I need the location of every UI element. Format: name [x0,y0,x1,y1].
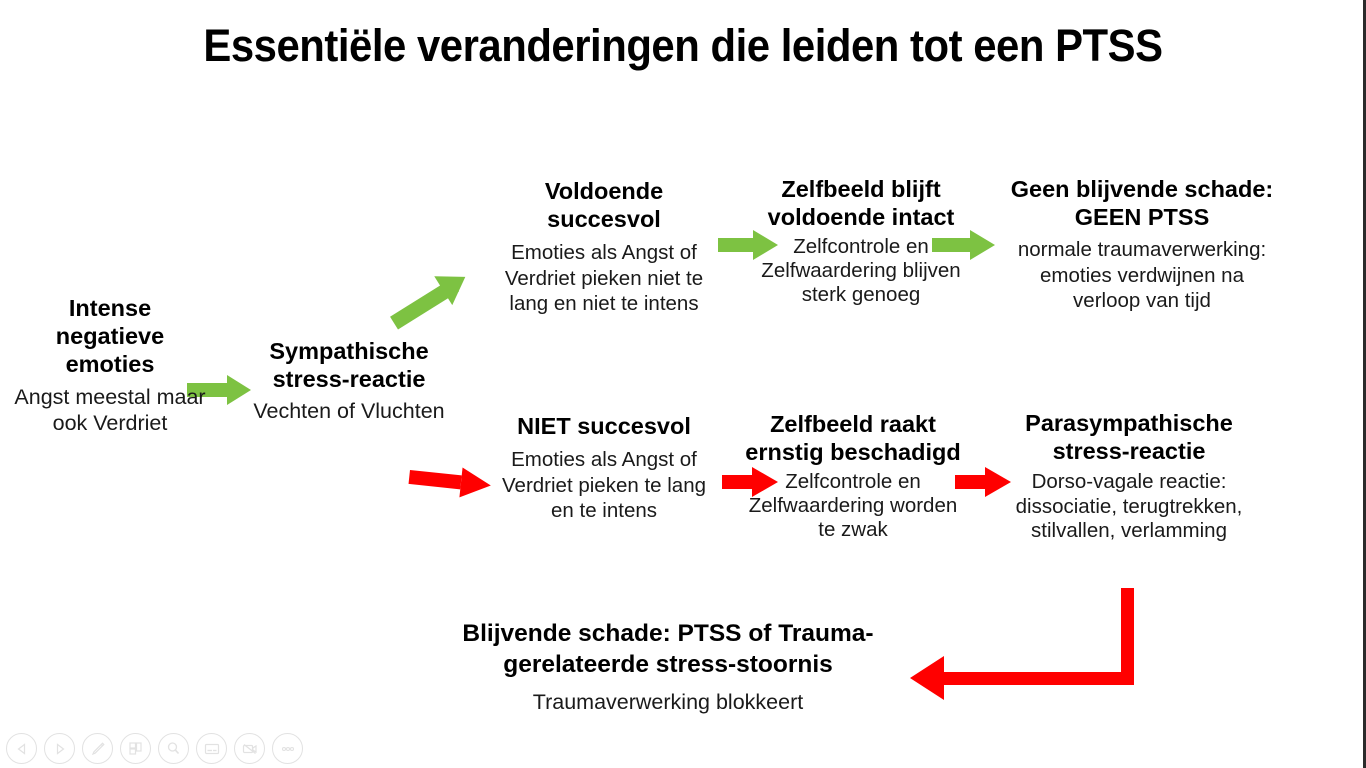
node-body: Vechten of Vluchten [230,398,468,424]
more-options-icon [279,740,297,758]
node-body: Dorso-vagale reactie: dissociatie, terug… [986,470,1272,544]
node-heading: Intense negatieve emoties [14,294,206,378]
node-heading: Sympathische stress-reactie [230,337,468,393]
all-slides-button[interactable] [120,733,151,764]
pen-icon [89,740,107,758]
node-intense-negative-emotions: Intense negatieve emoties Angst meestal … [14,294,206,436]
previous-slide-button[interactable] [6,733,37,764]
page-title: Essentiële veranderingen die leiden tot … [169,18,1198,74]
node-sympathetic-stress-reaction: Sympathische stress-reactie Vechten of V… [230,337,468,424]
node-body: Zelfcontrole en Zelfwaardering blijven s… [752,235,970,307]
presentation-toolbar [6,733,303,764]
subtitles-button[interactable] [196,733,227,764]
node-body: normale traumaverwerking: emoties verdwi… [1006,237,1278,314]
node-heading: NIET succesvol [488,412,720,440]
video-off-icon [241,740,259,758]
node-parasympathetic-stress-reaction: Parasympathische stress-reactie Dorso-va… [986,409,1272,544]
node-heading: Zelfbeeld blijft voldoende intact [752,175,970,231]
camera-off-button[interactable] [234,733,265,764]
node-permanent-damage-ptss: Blijvende schade: PTSS of Trauma-gerelat… [404,618,932,715]
node-body: Angst meestal maar ook Verdriet [14,384,206,436]
next-slide-button[interactable] [44,733,75,764]
node-selfimage-stays-intact: Zelfbeeld blijft voldoende intact Zelfco… [752,175,970,307]
subtitles-icon [203,740,221,758]
node-heading: Parasympathische stress-reactie [986,409,1272,465]
pen-tool-button[interactable] [82,733,113,764]
zoom-button[interactable] [158,733,189,764]
node-body: Zelfcontrole en Zelfwaardering worden te… [744,470,962,542]
node-body: Emoties als Angst of Verdriet pieken te … [488,447,720,524]
more-options-button[interactable] [272,733,303,764]
node-heading: Geen blijvende schade: GEEN PTSS [1006,175,1278,231]
node-no-permanent-damage: Geen blijvende schade: GEEN PTSS normale… [1006,175,1278,314]
node-selfimage-severely-damaged: Zelfbeeld raakt ernstig beschadigd Zelfc… [744,410,962,542]
node-heading: Voldoende succesvol [488,177,720,233]
node-body: Traumaverwerking blokkeert [404,689,932,715]
presentation-slide: Essentiële veranderingen die leiden tot … [0,0,1366,768]
arrow-red-elbow-to-permanent-damage [910,588,1140,698]
node-body: Emoties als Angst of Verdriet pieken nie… [488,240,720,317]
node-heading: Zelfbeeld raakt ernstig beschadigd [744,410,962,466]
node-not-successful: NIET succesvol Emoties als Angst of Verd… [488,412,720,524]
node-heading: Blijvende schade: PTSS of Trauma-gerelat… [404,618,932,680]
next-slide-icon [52,741,68,757]
previous-slide-icon [14,741,30,757]
node-sufficiently-successful: Voldoende succesvol Emoties als Angst of… [488,177,720,317]
slides-grid-icon [127,740,144,757]
zoom-icon [165,740,182,757]
